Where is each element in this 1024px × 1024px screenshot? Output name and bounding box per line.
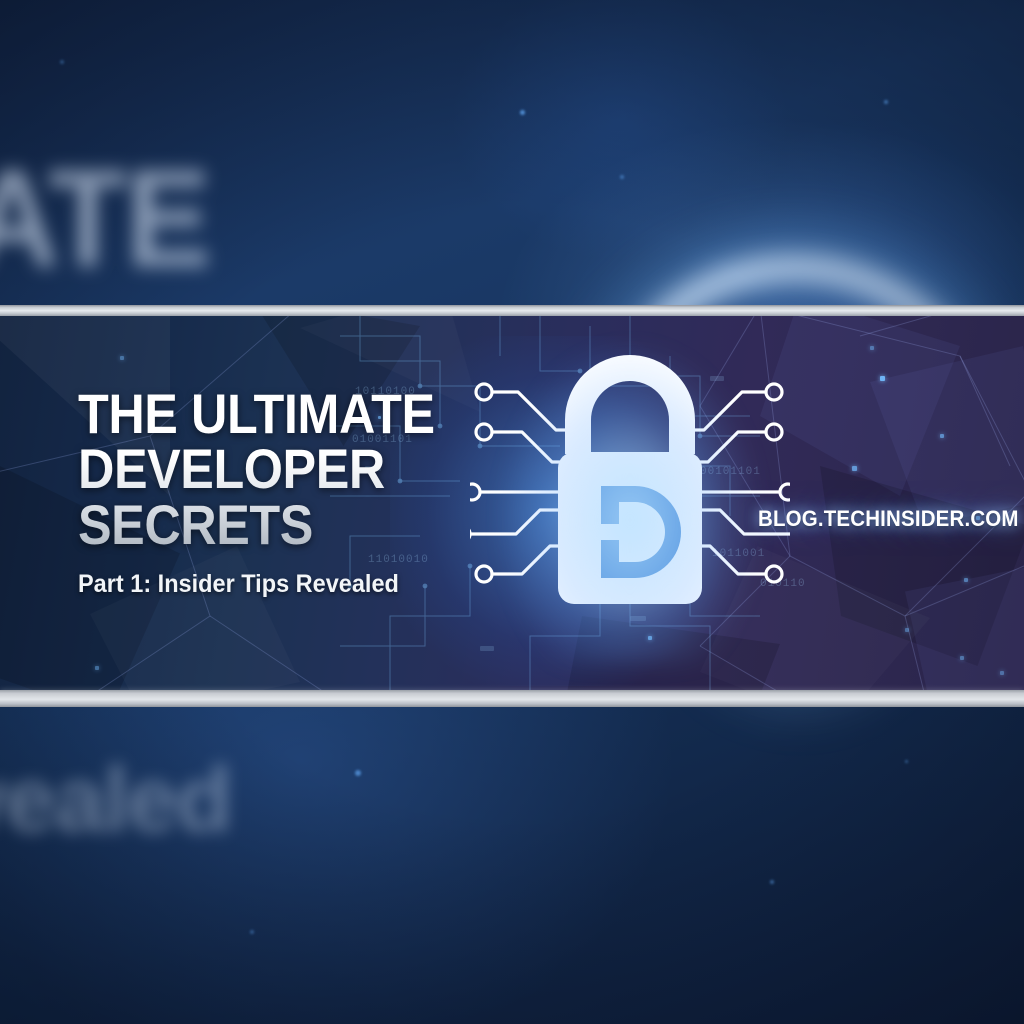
banner: 10110100 01001101 11010010 00101101 1011… xyxy=(0,305,1024,707)
banner-bottom-rule xyxy=(0,690,1024,707)
screenshot-canvas: ATE vealed xyxy=(0,0,1024,1024)
banner-top-rule xyxy=(0,305,1024,316)
accent-dots xyxy=(0,316,1024,696)
banner-artwork: 10110100 01001101 11010010 00101101 1011… xyxy=(0,316,1024,696)
